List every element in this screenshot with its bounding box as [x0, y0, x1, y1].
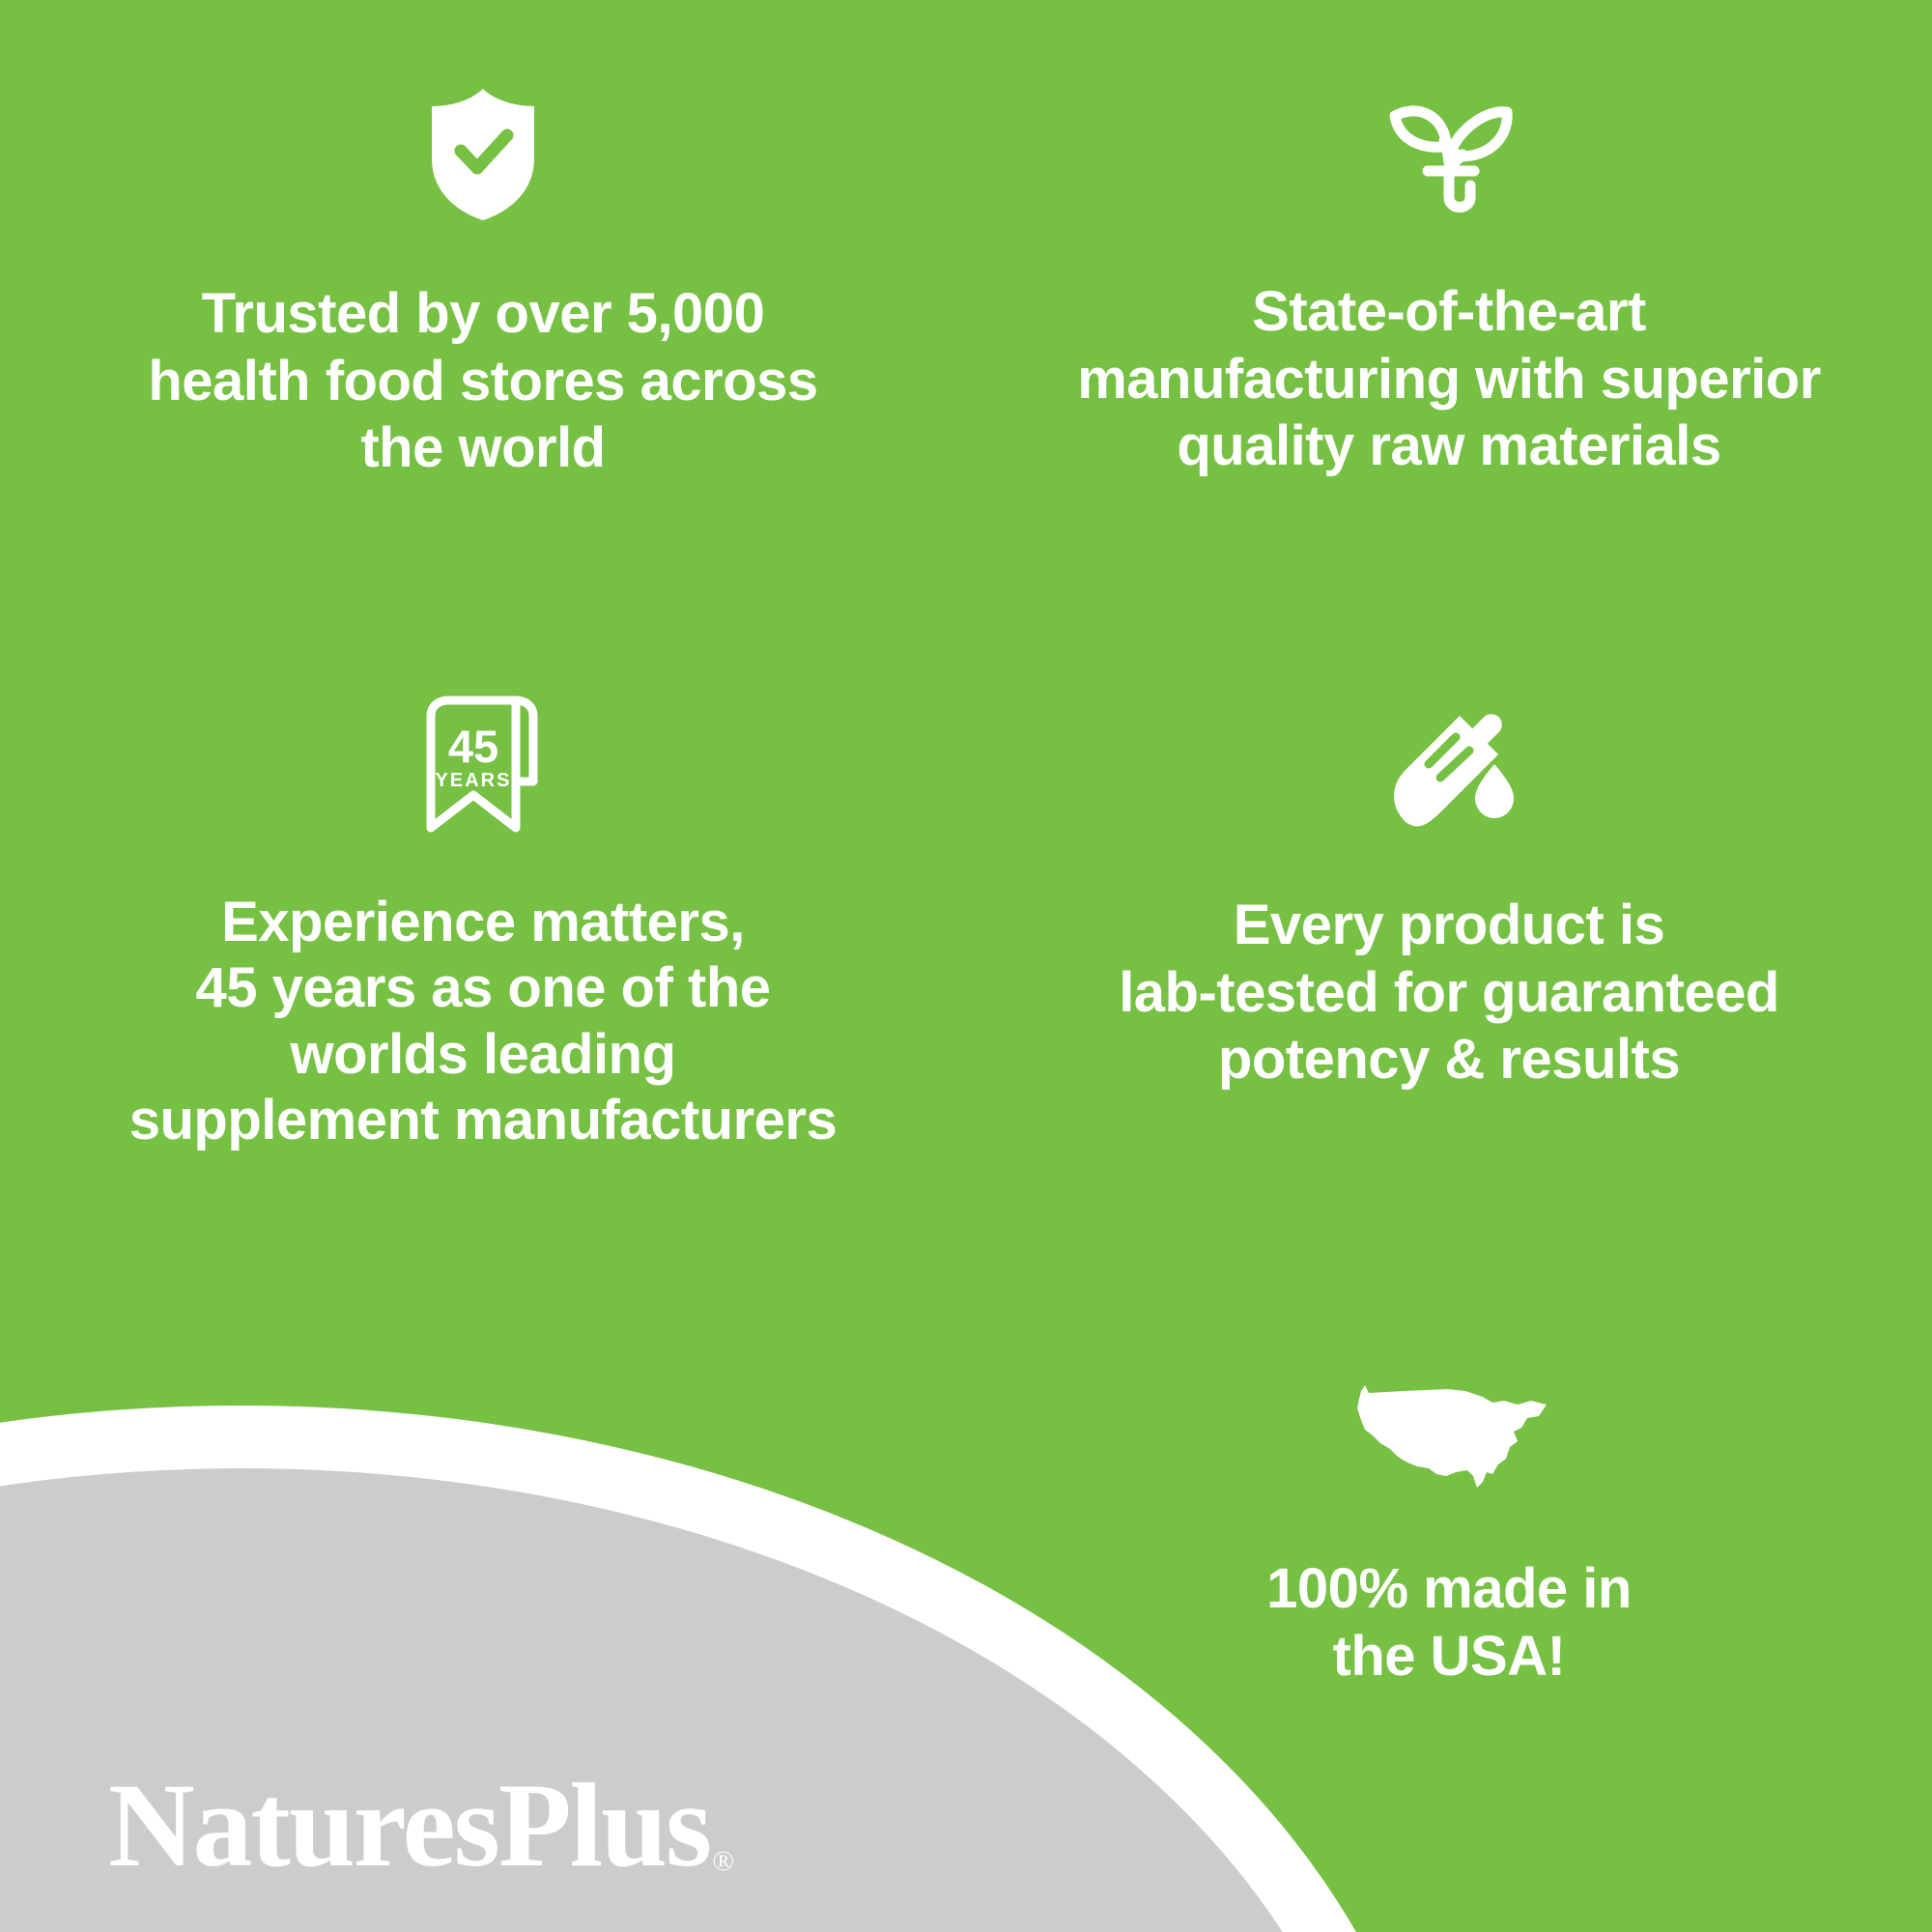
ribbon-label: YEARS — [436, 770, 512, 791]
usa-map-icon — [1348, 1381, 1550, 1497]
feature-grid: Trusted by over 5,000 health food stores… — [0, 0, 1932, 1932]
feature-line: supplement manufacturers — [129, 1088, 838, 1153]
seedling-plant-icon — [1381, 97, 1517, 222]
promo-graphic: Trusted by over 5,000 health food stores… — [0, 0, 1932, 1932]
brand-wordmark: NaturesPlus — [108, 1766, 710, 1886]
ribbon-number: 45 — [448, 721, 498, 772]
feature-line: 100% made in — [1266, 1555, 1632, 1623]
feature-manufacturing: State-of-the-art manufacturing with supe… — [966, 0, 1932, 638]
feature-trusted: Trusted by over 5,000 health food stores… — [0, 0, 966, 638]
shield-check-icon — [426, 106, 540, 222]
feature-line: the world — [148, 414, 817, 482]
feature-lab-tested: Every product is lab-tested for guarante… — [966, 638, 1932, 1275]
feature-made-in-usa-text: 100% made in the USA! — [1266, 1555, 1632, 1690]
feature-line: health food stores across — [148, 348, 817, 415]
feature-line: manufacturing with superior — [1077, 346, 1821, 413]
feature-experience: 45 YEARS Experience matters, 45 years as… — [0, 638, 966, 1275]
test-tube-droplet-icon — [1377, 715, 1521, 836]
brand-logo: NaturesPlus ® — [108, 1766, 734, 1886]
feature-line: 45 years as one of the — [129, 955, 838, 1021]
feature-line: the USA! — [1266, 1623, 1632, 1690]
feature-experience-text: Experience matters, 45 years as one of t… — [129, 890, 838, 1154]
feature-line: potency & results — [1119, 1026, 1779, 1094]
feature-line: Trusted by over 5,000 — [148, 280, 817, 348]
feature-line: quality raw materials — [1077, 412, 1821, 480]
registered-trademark-icon: ® — [710, 1847, 734, 1886]
feature-lab-tested-text: Every product is lab-tested for guarante… — [1119, 892, 1779, 1094]
feature-trusted-text: Trusted by over 5,000 health food stores… — [148, 280, 817, 482]
feature-made-in-usa: 100% made in the USA! — [966, 1275, 1932, 1932]
feature-line: worlds leading — [129, 1022, 838, 1088]
feature-line: State-of-the-art — [1077, 278, 1821, 346]
feature-manufacturing-text: State-of-the-art manufacturing with supe… — [1077, 278, 1821, 480]
ribbon-45-years-icon: 45 YEARS — [414, 705, 552, 836]
feature-line: Experience matters, — [129, 890, 838, 955]
feature-line: lab-tested for guaranteed — [1119, 959, 1779, 1027]
feature-line: Every product is — [1119, 892, 1779, 959]
